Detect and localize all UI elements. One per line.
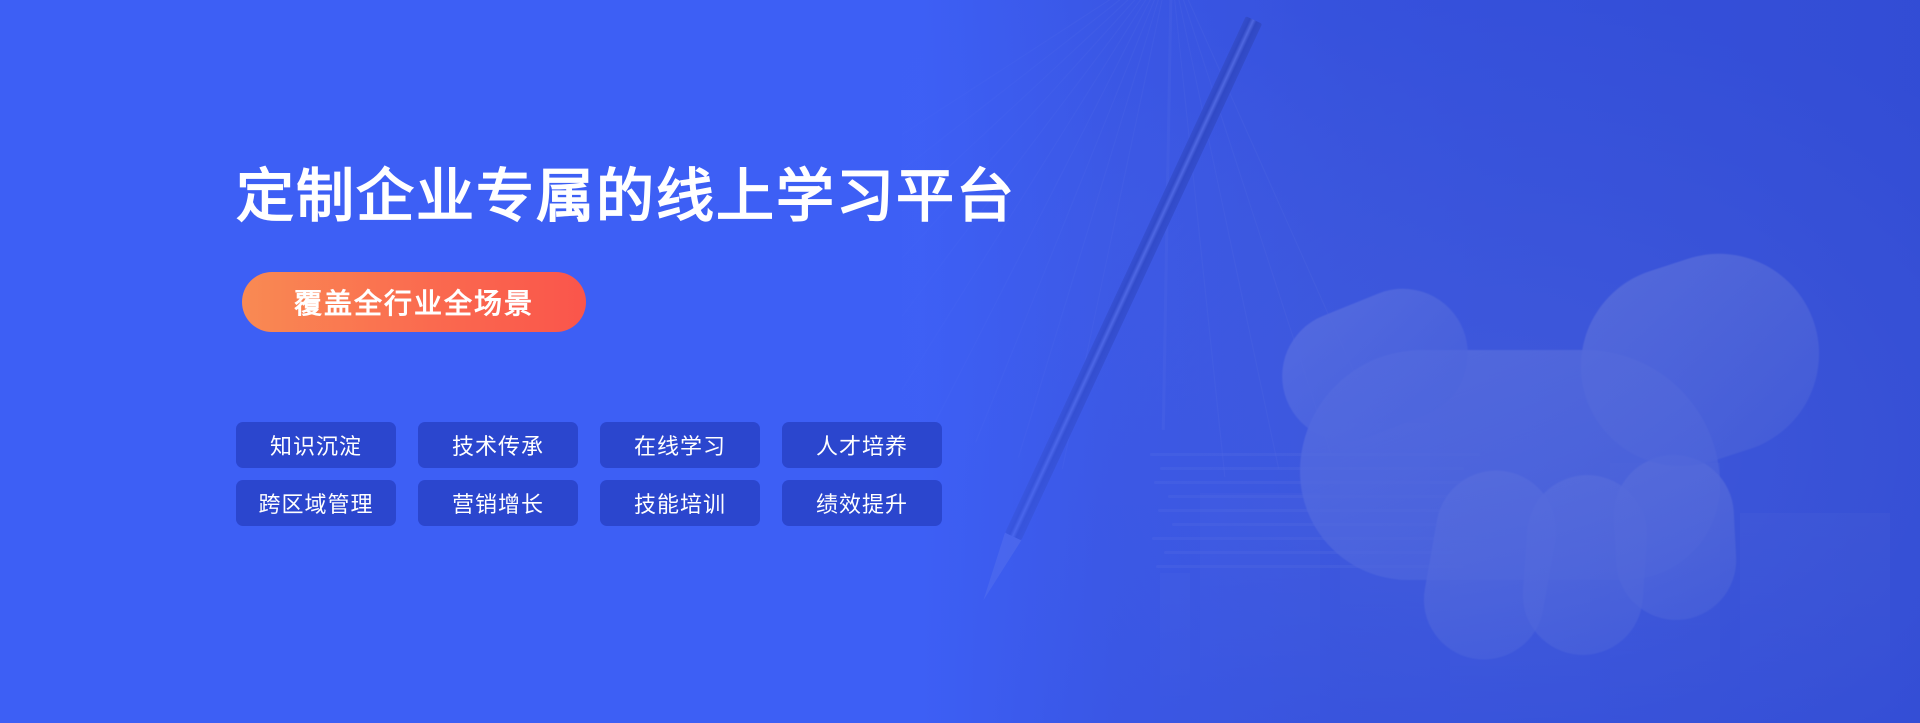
tag-item-cross-region-management[interactable]: 跨区域管理	[236, 480, 396, 526]
tag-item-talent-development[interactable]: 人才培养	[782, 422, 942, 468]
tag-item-marketing-growth[interactable]: 营销增长	[418, 480, 578, 526]
banner-content: 定制企业专属的线上学习平台 覆盖全行业全场景 知识沉淀 技术传承 在线学习 人才…	[236, 0, 1136, 723]
status-badge[interactable]: 覆盖全行业全场景	[242, 272, 586, 332]
tag-item-performance-improvement[interactable]: 绩效提升	[782, 480, 942, 526]
tag-item-online-learning[interactable]: 在线学习	[600, 422, 760, 468]
tag-list: 知识沉淀 技术传承 在线学习 人才培养 跨区域管理 营销增长 技能培训 绩效提升	[236, 422, 942, 526]
hero-banner: 定制企业专属的线上学习平台 覆盖全行业全场景 知识沉淀 技术传承 在线学习 人才…	[0, 0, 1920, 723]
tag-item-knowledge-precipitation[interactable]: 知识沉淀	[236, 422, 396, 468]
tag-item-skill-training[interactable]: 技能培训	[600, 480, 760, 526]
tag-item-technology-inheritance[interactable]: 技术传承	[418, 422, 578, 468]
page-title: 定制企业专属的线上学习平台	[236, 168, 1016, 226]
